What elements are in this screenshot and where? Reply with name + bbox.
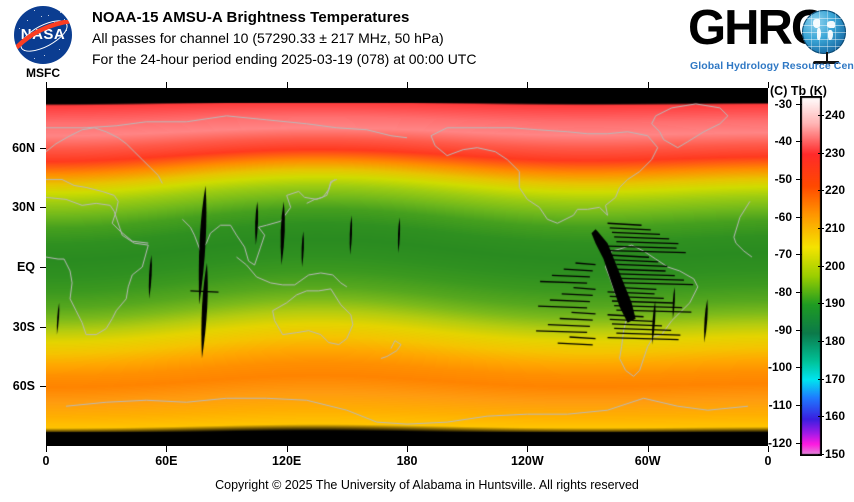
y-tick-label: 60S bbox=[13, 379, 35, 393]
y-tick-label: 60N bbox=[12, 141, 35, 155]
colorbar-tick-k bbox=[818, 153, 824, 154]
colorbar-tick-k bbox=[818, 341, 824, 342]
colorbar-tick-c bbox=[796, 254, 802, 255]
colorbar-tick-c bbox=[796, 179, 802, 180]
colorbar-label-celsius: -60 bbox=[775, 210, 792, 224]
x-tick bbox=[287, 446, 288, 452]
colorbar-label-kelvin: 210 bbox=[825, 221, 845, 235]
colorbar-label-kelvin: 230 bbox=[825, 146, 845, 160]
x-tick-top bbox=[287, 82, 288, 88]
x-tick-top bbox=[407, 82, 408, 88]
colorbar-tick-k bbox=[818, 303, 824, 304]
x-tick-label: 120E bbox=[272, 454, 301, 468]
x-tick-label: 180 bbox=[397, 454, 418, 468]
x-tick-label: 0 bbox=[765, 454, 772, 468]
colorbar-label-celsius: -40 bbox=[775, 134, 792, 148]
y-tick-label: EQ bbox=[17, 260, 35, 274]
y-tick bbox=[40, 267, 46, 268]
y-tick-label: 30S bbox=[13, 320, 35, 334]
x-tick bbox=[648, 446, 649, 452]
colorbar-tick-c bbox=[796, 292, 802, 293]
colorbar-label-celsius: -80 bbox=[775, 285, 792, 299]
colorbar[interactable] bbox=[800, 96, 820, 454]
globe-icon bbox=[802, 10, 846, 54]
colorbar-tick-c bbox=[796, 367, 802, 368]
colorbar-label-celsius: -110 bbox=[769, 398, 792, 412]
x-tick-top bbox=[527, 82, 528, 88]
world-map-plot[interactable] bbox=[46, 88, 768, 446]
nasa-meatball-sphere: NASA bbox=[14, 6, 72, 64]
y-tick bbox=[40, 386, 46, 387]
x-tick bbox=[166, 446, 167, 452]
colorbar-tick-c bbox=[796, 443, 802, 444]
colorbar-tick-c bbox=[796, 330, 802, 331]
colorbar-tick-k bbox=[818, 416, 824, 417]
colorbar-label-celsius: -70 bbox=[775, 247, 792, 261]
colorbar-label-kelvin: 200 bbox=[825, 259, 845, 273]
brightness-temperature-raster bbox=[46, 88, 768, 446]
colorbar-label-celsius: -100 bbox=[768, 360, 792, 374]
ghrc-logo: GHRC Global Hydrology Resource Center bbox=[688, 4, 848, 76]
colorbar-tick-k bbox=[818, 228, 824, 229]
colorbar-tick-k bbox=[818, 115, 824, 116]
x-tick bbox=[46, 446, 47, 452]
colorbar-label-kelvin: 170 bbox=[825, 372, 845, 386]
y-tick bbox=[40, 207, 46, 208]
colorbar-label-celsius: -30 bbox=[775, 97, 792, 111]
x-tick-top bbox=[648, 82, 649, 88]
x-tick-label: 0 bbox=[43, 454, 50, 468]
x-tick-top bbox=[768, 82, 769, 88]
colorbar-label-kelvin: 240 bbox=[825, 108, 845, 122]
page-title: NOAA-15 AMSU-A Brightness Temperatures bbox=[92, 8, 672, 28]
y-tick-label: 30N bbox=[12, 200, 35, 214]
x-tick bbox=[407, 446, 408, 452]
x-tick-top bbox=[166, 82, 167, 88]
colorbar-tick-c bbox=[796, 104, 802, 105]
colorbar-tick-c bbox=[796, 405, 802, 406]
colorbar-label-kelvin: 180 bbox=[825, 334, 845, 348]
period-subtitle: For the 24-hour period ending 2025-03-19… bbox=[92, 49, 672, 70]
colorbar-label-kelvin: 220 bbox=[825, 183, 845, 197]
x-tick-label: 60E bbox=[155, 454, 177, 468]
colorbar-tick-c bbox=[796, 217, 802, 218]
title-block: NOAA-15 AMSU-A Brightness Temperatures A… bbox=[92, 8, 672, 70]
colorbar-label-kelvin: 160 bbox=[825, 409, 845, 423]
colorbar-tick-k bbox=[818, 379, 824, 380]
x-tick-top bbox=[46, 82, 47, 88]
colorbar-label-kelvin: 150 bbox=[825, 447, 845, 461]
x-tick bbox=[527, 446, 528, 452]
x-tick-label: 120W bbox=[511, 454, 544, 468]
colorbar-label-kelvin: 190 bbox=[825, 296, 845, 310]
nasa-center-label: MSFC bbox=[6, 66, 80, 80]
copyright-notice: Copyright © 2025 The University of Alaba… bbox=[0, 478, 854, 492]
x-tick-label: 60W bbox=[635, 454, 661, 468]
nasa-red-swoosh bbox=[16, 20, 72, 50]
y-tick bbox=[40, 327, 46, 328]
nasa-logo: NASA MSFC bbox=[6, 6, 80, 80]
channel-subtitle: All passes for channel 10 (57290.33 ± 21… bbox=[92, 28, 672, 49]
colorbar-label-celsius: -120 bbox=[768, 436, 792, 450]
ghrc-tagline: Global Hydrology Resource Center bbox=[690, 60, 854, 72]
colorbar-gradient bbox=[800, 96, 822, 456]
colorbar-tick-k bbox=[818, 266, 824, 267]
colorbar-tick-c bbox=[796, 141, 802, 142]
colorbar-label-celsius: -90 bbox=[775, 323, 792, 337]
colorbar-tick-k bbox=[818, 190, 824, 191]
colorbar-tick-k bbox=[818, 454, 824, 455]
colorbar-label-celsius: -50 bbox=[775, 172, 792, 186]
y-tick bbox=[40, 148, 46, 149]
